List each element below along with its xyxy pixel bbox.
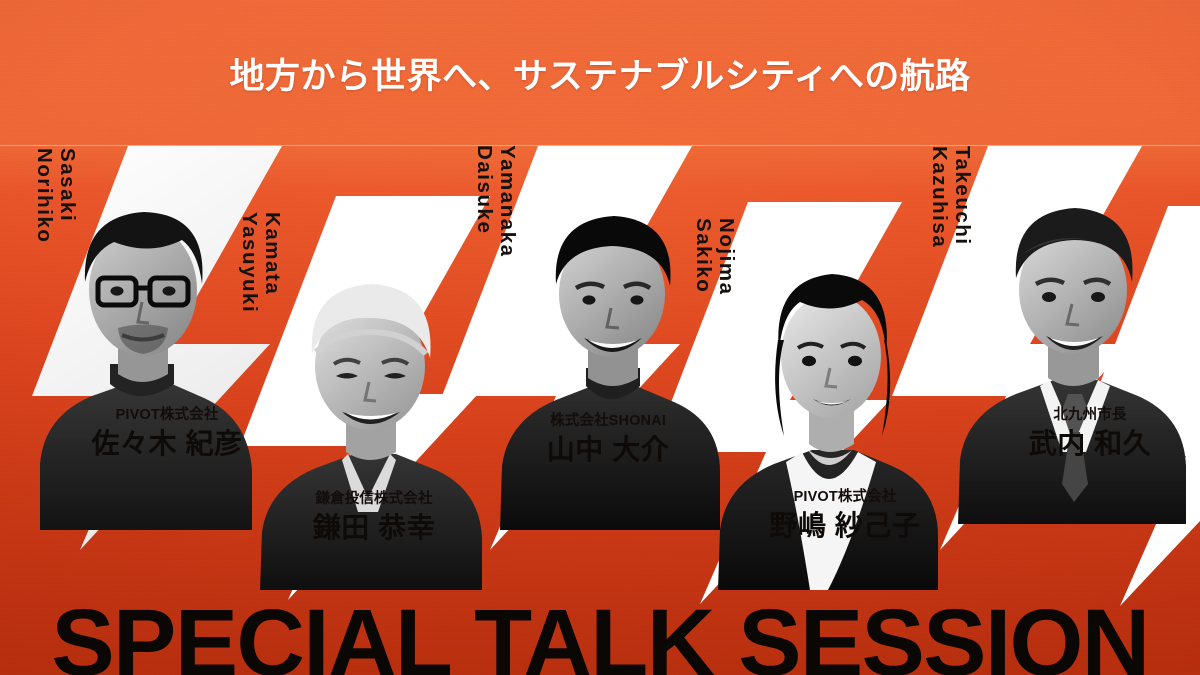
portrait-sasaki — [22, 178, 262, 530]
footer-headline-bar: SPECIAL TALK SESSION — [0, 579, 1200, 675]
speaker-caption-nojima: PIVOT株式会社 野嶋 紗己子 — [730, 490, 960, 540]
speaker-name: 武内 和久 — [990, 430, 1190, 458]
speaker-organization: 北九州市長 — [990, 408, 1190, 423]
poster-header: 地方から世界へ、サステナブルシティへの航路 — [0, 0, 1200, 146]
speaker-organization: PIVOT株式会社 — [730, 490, 960, 505]
speaker-organization: 鎌倉投信株式会社 — [268, 492, 480, 507]
speaker-caption-takeuchi: 北九州市長 武内 和久 — [990, 408, 1190, 458]
speaker-organization: 株式会社SHONAI — [508, 414, 708, 429]
romaji-given-name: Kazuhisa — [927, 146, 950, 248]
speaker-name: 野嶋 紗己子 — [730, 512, 960, 540]
portrait-yamanaka — [492, 186, 724, 530]
footer-headline: SPECIAL TALK SESSION — [51, 596, 1148, 675]
speaker-name: 佐々木 紀彦 — [52, 430, 282, 458]
portrait-takeuchi — [952, 184, 1192, 524]
speaker-caption-yamanaka: 株式会社SHONAI 山中 大介 — [508, 414, 708, 464]
speaker-caption-sasaki: PIVOT株式会社 佐々木 紀彦 — [52, 408, 282, 458]
speaker-name: 鎌田 恭幸 — [268, 514, 480, 542]
header-divider — [0, 145, 1200, 146]
speaker-organization: PIVOT株式会社 — [52, 408, 282, 423]
page-title: 地方から世界へ、サステナブルシティへの航路 — [229, 48, 970, 99]
speaker-caption-kamata: 鎌倉投信株式会社 鎌田 恭幸 — [268, 492, 480, 542]
poster-stage: Sasaki Norihiko — [0, 0, 1200, 675]
speaker-name: 山中 大介 — [508, 436, 708, 464]
romaji-given-name: Sakiko — [691, 218, 714, 296]
